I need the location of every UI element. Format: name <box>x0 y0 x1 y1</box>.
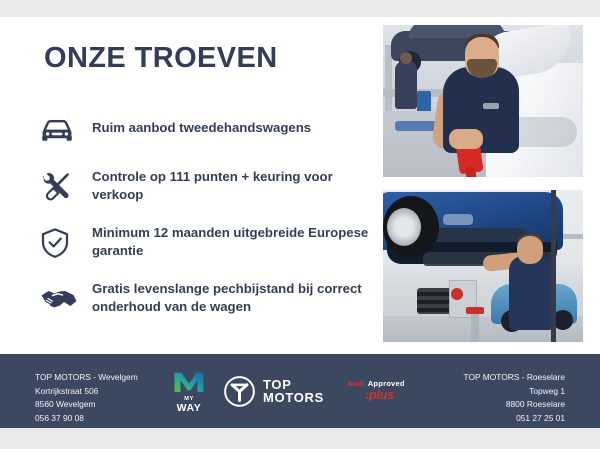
feature-list: Ruim aanbod tweedehandswagens Controle <box>40 111 370 319</box>
dealer-street: Kortrijkstraat 506 <box>35 385 138 399</box>
list-item-label: Controle op 111 punten + keuring voor ve… <box>92 167 370 204</box>
list-item: Minimum 12 maanden uitgebreide Europese … <box>40 223 370 263</box>
dealer-street: Topweg 1 <box>464 385 565 399</box>
myway-mark-icon <box>172 369 206 395</box>
dealer-address-roeselare: TOP MOTORS - Roeselare Topweg 1 8800 Roe… <box>464 371 565 425</box>
dealer-city: 8800 Roeselare <box>464 398 565 412</box>
dealer-name: TOP MOTORS - Roeselare <box>464 371 565 385</box>
shield-check-icon <box>40 223 92 262</box>
footer-bar: TOP MOTORS - Wevelgem Kortrijkstraat 506… <box>0 354 600 428</box>
list-item: Controle op 111 punten + keuring voor ve… <box>40 167 370 207</box>
topmotors-line2: MOTORS <box>263 391 324 405</box>
page-title: ONZE TROEVEN <box>44 42 278 75</box>
screenshot-stage: ONZE TROEVEN <box>0 0 600 449</box>
list-item: Ruim aanbod tweedehandswagens <box>40 111 370 151</box>
tools-icon <box>40 167 92 206</box>
audi-approved-plus-logo[interactable]: Audi Approved :plus <box>347 380 405 402</box>
banner-photo-column <box>383 25 583 355</box>
dealer-city: 8560 Wevelgem <box>35 398 138 412</box>
myway-logo[interactable]: MY WAY <box>172 369 206 413</box>
dealer-name: TOP MOTORS - Wevelgem <box>35 371 138 385</box>
topmotors-logo[interactable]: TOP MOTORS <box>223 375 324 408</box>
promo-banner: ONZE TROEVEN <box>0 17 600 428</box>
list-item-label: Gratis levenslange pechbijstand bij corr… <box>92 279 370 316</box>
dealer-phone: 051 27 25 01 <box>464 412 565 426</box>
topmotors-wordmark: TOP MOTORS <box>263 377 324 404</box>
audi-plus-label: :plus <box>365 389 394 402</box>
list-item: Gratis levenslange pechbijstand bij corr… <box>40 279 370 319</box>
photo-car-on-lift <box>383 190 583 342</box>
audi-brand-label: Audi <box>347 380 365 388</box>
list-item-label: Minimum 12 maanden uitgebreide Europese … <box>92 223 370 260</box>
audi-approved-label: Approved <box>368 380 405 388</box>
car-front-icon <box>40 111 92 150</box>
audi-approved-row: Audi Approved <box>347 380 405 388</box>
topmotors-line1: TOP <box>263 377 324 391</box>
banner-left-column: ONZE TROEVEN <box>0 17 383 354</box>
footer-logos: MY WAY TOP MOTORS <box>172 369 405 413</box>
dealer-address-wevelgem: TOP MOTORS - Wevelgem Kortrijkstraat 506… <box>35 371 138 425</box>
dealer-phone: 056 37 90 08 <box>35 412 138 426</box>
handshake-icon <box>40 279 92 318</box>
topmotors-mark-icon <box>223 375 256 408</box>
list-item-label: Ruim aanbod tweedehandswagens <box>92 111 370 137</box>
photo-mechanic-with-tool <box>383 25 583 177</box>
myway-line2: WAY <box>177 403 202 414</box>
